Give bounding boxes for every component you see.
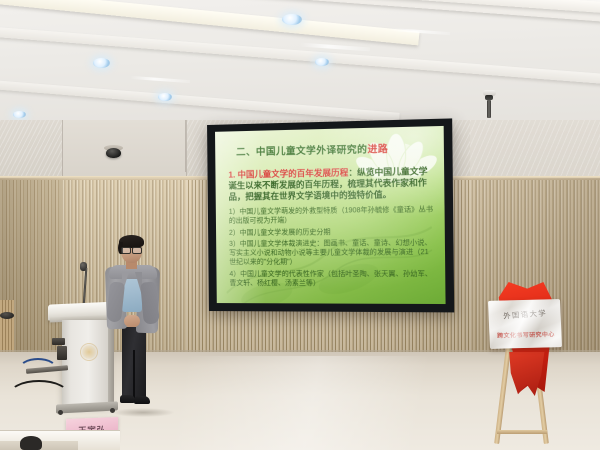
glasses-icon bbox=[121, 247, 142, 253]
slide-surface: 二、中国儿童文学外译研究的进路 1. 中国儿童文学的百年发展历程：纵览中国儿童文… bbox=[215, 126, 446, 304]
hands bbox=[124, 315, 140, 327]
slide-paragraph-highlight: 1. 中国儿童文学的百年发展历程 bbox=[228, 167, 348, 179]
recessed-light-icon bbox=[315, 58, 329, 66]
recessed-light-icon bbox=[13, 111, 26, 118]
slide-title-prefix: 二、中国儿童文学外译研究的 bbox=[236, 144, 367, 158]
university-seal-icon bbox=[80, 343, 98, 361]
power-cable bbox=[8, 380, 70, 406]
leg-separation bbox=[133, 350, 135, 400]
ceiling bbox=[0, 0, 600, 136]
projection-screen[interactable]: 二、中国儿童文学外译研究的进路 1. 中国儿童文学的百年发展历程：纵览中国儿童文… bbox=[207, 118, 454, 312]
light-reflection bbox=[130, 76, 190, 83]
ceiling-beam bbox=[0, 79, 400, 122]
camera-arm bbox=[487, 100, 491, 118]
wall-seam bbox=[185, 120, 186, 172]
wall-seam bbox=[62, 120, 63, 180]
microphone-icon bbox=[0, 312, 14, 319]
slide-bullet: 4）中国儿童文学的代表性作家（包括叶圣陶、张天翼、孙幼军、曹文轩、杨红樱、汤素兰… bbox=[229, 270, 434, 289]
shoe bbox=[120, 395, 135, 403]
plaque-line-2: 跨文化书写研究中心 bbox=[493, 329, 558, 340]
wood-rail-left bbox=[0, 300, 14, 356]
recessed-light-icon bbox=[158, 93, 172, 101]
recessed-light-icon bbox=[282, 14, 302, 25]
recessed-light-icon bbox=[93, 58, 110, 68]
av-equipment bbox=[52, 338, 65, 345]
slide-bullet: 2）中国儿童文学发展的历史分期 bbox=[229, 227, 434, 238]
speaker-person bbox=[100, 232, 170, 414]
av-equipment bbox=[57, 346, 67, 360]
slide-bullet: 3）中国儿童文学体裁演进史：图画书、童话、童诗、幻想小说、写实主义小说和动物小说… bbox=[229, 239, 434, 268]
slide-text-block: 二、中国儿童文学外译研究的进路 1. 中国儿童文学的百年发展历程：纵览中国儿童文… bbox=[228, 143, 435, 291]
ceiling-beam bbox=[0, 26, 600, 88]
easel-crossbar bbox=[497, 430, 547, 434]
table-object bbox=[20, 436, 42, 450]
slide-paragraph: 1. 中国儿童文学的百年发展历程：纵览中国儿童文学诞生以来不断发展的百年历程，梳… bbox=[228, 165, 433, 202]
lecture-hall-photo: 二、中国儿童文学外译研究的进路 1. 中国儿童文学的百年发展历程：纵览中国儿童文… bbox=[0, 0, 600, 450]
ceiling-speaker-icon bbox=[106, 148, 121, 158]
plaque-line-1: 外国语大学 bbox=[492, 307, 558, 323]
slide-bullet-list: 1）中国儿童文学萌发的外救型特质（1908年孙毓修《童话》丛书的出版可视为开端）… bbox=[229, 205, 435, 289]
light-reflection bbox=[300, 43, 370, 52]
podium-wheel bbox=[58, 410, 63, 415]
slide-bullet: 1）中国儿童文学萌发的外救型特质（1908年孙毓修《童话》丛书的出版可视为开端） bbox=[229, 205, 434, 226]
wall-column bbox=[62, 120, 187, 180]
shoe bbox=[134, 396, 150, 404]
slide-title: 二、中国儿童文学外译研究的进路 bbox=[236, 143, 433, 160]
security-camera-icon bbox=[485, 95, 493, 100]
network-cable bbox=[18, 358, 58, 378]
slide-title-highlight: 进路 bbox=[367, 144, 388, 156]
institution-plaque: 外国语大学 跨文化书写研究中心 bbox=[488, 299, 562, 349]
